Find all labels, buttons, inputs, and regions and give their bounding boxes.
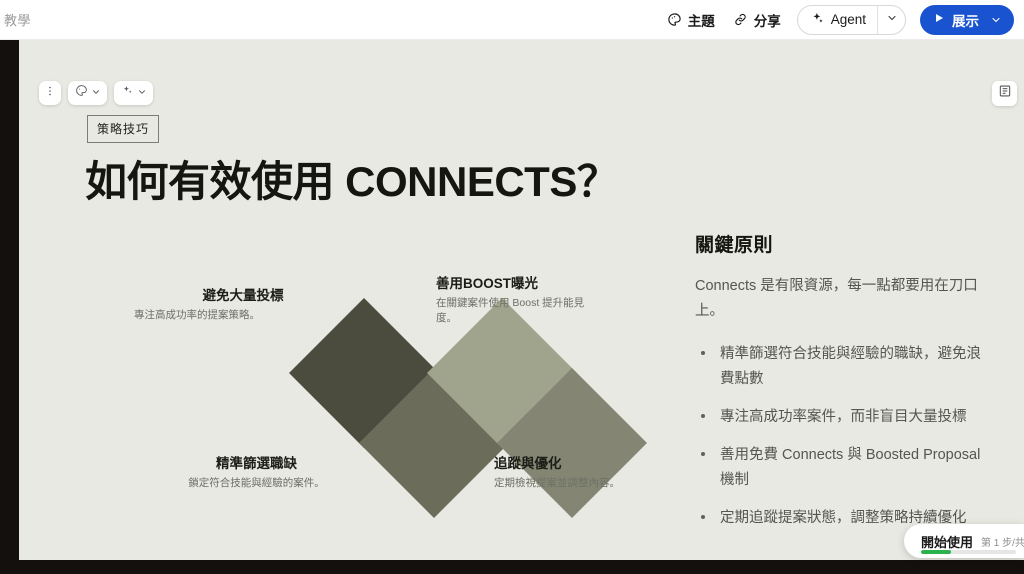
app-topbar: 教學 主題 分享	[0, 0, 1024, 40]
onboarding-step: 第 1 步/共	[981, 534, 1024, 549]
more-vertical-icon	[44, 84, 56, 102]
onboarding-widget[interactable]: 開始使用 第 1 步/共	[904, 524, 1024, 558]
play-icon	[933, 12, 945, 27]
chevron-down-icon	[886, 11, 898, 29]
slide-canvas[interactable]: 策略技巧 如何有效使用 CONNECTS？ 避免大量投標 專注高成功率的提案策略…	[19, 40, 1024, 560]
palette-icon	[75, 84, 88, 102]
theme-label: 主題	[688, 10, 715, 30]
theme-button[interactable]: 主題	[665, 6, 717, 34]
bottom-strip	[0, 560, 1024, 574]
diagram-label-title: 善用BOOST曝光	[436, 275, 601, 293]
present-button[interactable]: 展示	[920, 5, 1014, 35]
key-principles-section: 關鍵原則 Connects 是有限資源，每一點都要用在刀口上。 精準篩選符合技能…	[695, 230, 995, 544]
onboarding-title: 開始使用	[921, 532, 973, 551]
diagram-label-bottom-left: 精準篩選職缺 鎖定符合技能與經驗的案件。	[149, 455, 364, 491]
list-item: 善用免費 Connects 與 Boosted Proposal 機制	[695, 443, 995, 493]
agent-dropdown-toggle[interactable]	[877, 6, 905, 34]
slide-title: 如何有效使用 CONNECTS？	[85, 148, 618, 209]
left-rail	[0, 40, 19, 574]
list-item: 精準篩選符合技能與經驗的職缺，避免浪費點數	[695, 342, 995, 392]
onboarding-progress-bar	[921, 550, 1016, 554]
diagram-label-title: 追蹤與優化	[494, 455, 684, 473]
notes-panel-icon	[998, 84, 1012, 103]
slide-ai-button[interactable]	[114, 81, 153, 105]
editor-area: 策略技巧 如何有效使用 CONNECTS？ 避免大量投標 專注高成功率的提案策略…	[0, 40, 1024, 574]
diagram-label-title: 精準篩選職缺	[149, 455, 364, 473]
slide-theme-button[interactable]	[68, 81, 107, 105]
diagram-label-subtitle: 在關鍵案件使用 Boost 提升能見度。	[436, 296, 601, 326]
chevron-down-icon	[137, 84, 147, 102]
diagram-label-subtitle: 專注高成功率的提案策略。	[134, 308, 324, 323]
key-principles-list: 精準篩選符合技能與經驗的職缺，避免浪費點數 專注高成功率案件，而非盲目大量投標 …	[695, 342, 995, 531]
link-icon	[733, 12, 748, 27]
diagram-label-top-left: 避免大量投標 專注高成功率的提案策略。	[134, 287, 324, 323]
agent-button-group: Agent	[797, 5, 906, 35]
document-title: 教學	[4, 10, 31, 29]
diagram-label-title: 避免大量投標	[134, 287, 324, 305]
slide-badge: 策略技巧	[87, 115, 159, 143]
sparkle-icon	[121, 84, 134, 102]
present-label: 展示	[952, 10, 979, 30]
present-dropdown-toggle[interactable]	[986, 14, 1002, 26]
chevron-down-icon	[91, 84, 101, 102]
more-options-button[interactable]	[39, 81, 61, 105]
topbar-actions: 主題 分享 Agent	[665, 5, 1024, 35]
list-item: 專注高成功率案件，而非盲目大量投標	[695, 405, 995, 430]
agent-button[interactable]: Agent	[798, 6, 877, 34]
agent-label: Agent	[831, 12, 866, 27]
sparkle-icon	[810, 11, 825, 29]
diagram-label-bottom-right: 追蹤與優化 定期檢視提案並調整內容。	[494, 455, 684, 491]
palette-icon	[667, 12, 682, 27]
diamond-diagram: 避免大量投標 專注高成功率的提案策略。 善用BOOST曝光 在關鍵案件使用 Bo…	[129, 270, 649, 515]
share-label: 分享	[754, 10, 781, 30]
slide-floating-toolbar	[39, 81, 153, 105]
key-principles-title: 關鍵原則	[695, 230, 995, 257]
diagram-label-top-right: 善用BOOST曝光 在關鍵案件使用 Boost 提升能見度。	[436, 275, 601, 327]
diagram-label-subtitle: 定期檢視提案並調整內容。	[494, 476, 684, 491]
key-principles-intro: Connects 是有限資源，每一點都要用在刀口上。	[695, 274, 995, 324]
notes-panel-button[interactable]	[992, 81, 1017, 106]
diagram-label-subtitle: 鎖定符合技能與經驗的案件。	[149, 476, 364, 491]
share-button[interactable]: 分享	[731, 6, 783, 34]
